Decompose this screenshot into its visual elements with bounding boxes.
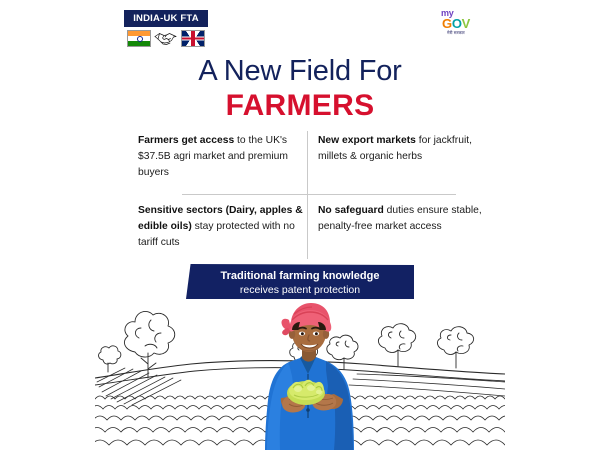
- handshake-icon: [153, 29, 179, 47]
- facts-vertical-divider: [307, 131, 308, 259]
- fact-item: New export markets for jackfruit, millet…: [318, 133, 486, 165]
- uk-flag-icon: [181, 30, 205, 47]
- banner-line-2: receives patent protection: [186, 284, 414, 297]
- fact-item: Sensitive sectors (Dairy, apples & edibl…: [138, 203, 306, 251]
- mygov-subtitle: मेरी सरकार: [436, 31, 476, 35]
- patent-protection-banner: Traditional farming knowledge receives p…: [186, 264, 414, 299]
- fact-highlight: No safeguard: [318, 205, 384, 216]
- fact-highlight: New export markets: [318, 135, 416, 146]
- poster-title: A New Field For FARMERS: [0, 56, 600, 123]
- india-uk-fta-logo: INDIA-UK FTA: [124, 10, 208, 47]
- mygov-gov-text: GOV: [436, 17, 476, 30]
- mygov-letter-v: V: [462, 16, 470, 31]
- facts-horizontal-divider: [182, 194, 456, 195]
- fact-highlight: Farmers get access: [138, 135, 234, 146]
- fta-logo-emblems: [124, 30, 208, 47]
- title-line-1: A New Field For: [0, 56, 600, 88]
- farmer-photo: [258, 300, 376, 450]
- banner-line-1: Traditional farming knowledge: [186, 270, 414, 284]
- mygov-letter-o: O: [452, 16, 462, 31]
- fta-logo-label: INDIA-UK FTA: [124, 10, 208, 27]
- facts-grid: Farmers get access to the UK's $37.5B ag…: [128, 131, 472, 259]
- poster-header: INDIA-UK FTA: [0, 0, 600, 52]
- fact-item: No safeguard duties ensure stable, penal…: [318, 203, 486, 235]
- title-line-2: FARMERS: [0, 89, 600, 124]
- fact-item: Farmers get access to the UK's $37.5B ag…: [138, 133, 306, 181]
- mygov-letter-g: G: [442, 16, 452, 31]
- mygov-logo: my GOV मेरी सरकार: [436, 9, 476, 35]
- infographic-poster: INDIA-UK FTA: [0, 0, 600, 450]
- india-flag-icon: [127, 30, 151, 47]
